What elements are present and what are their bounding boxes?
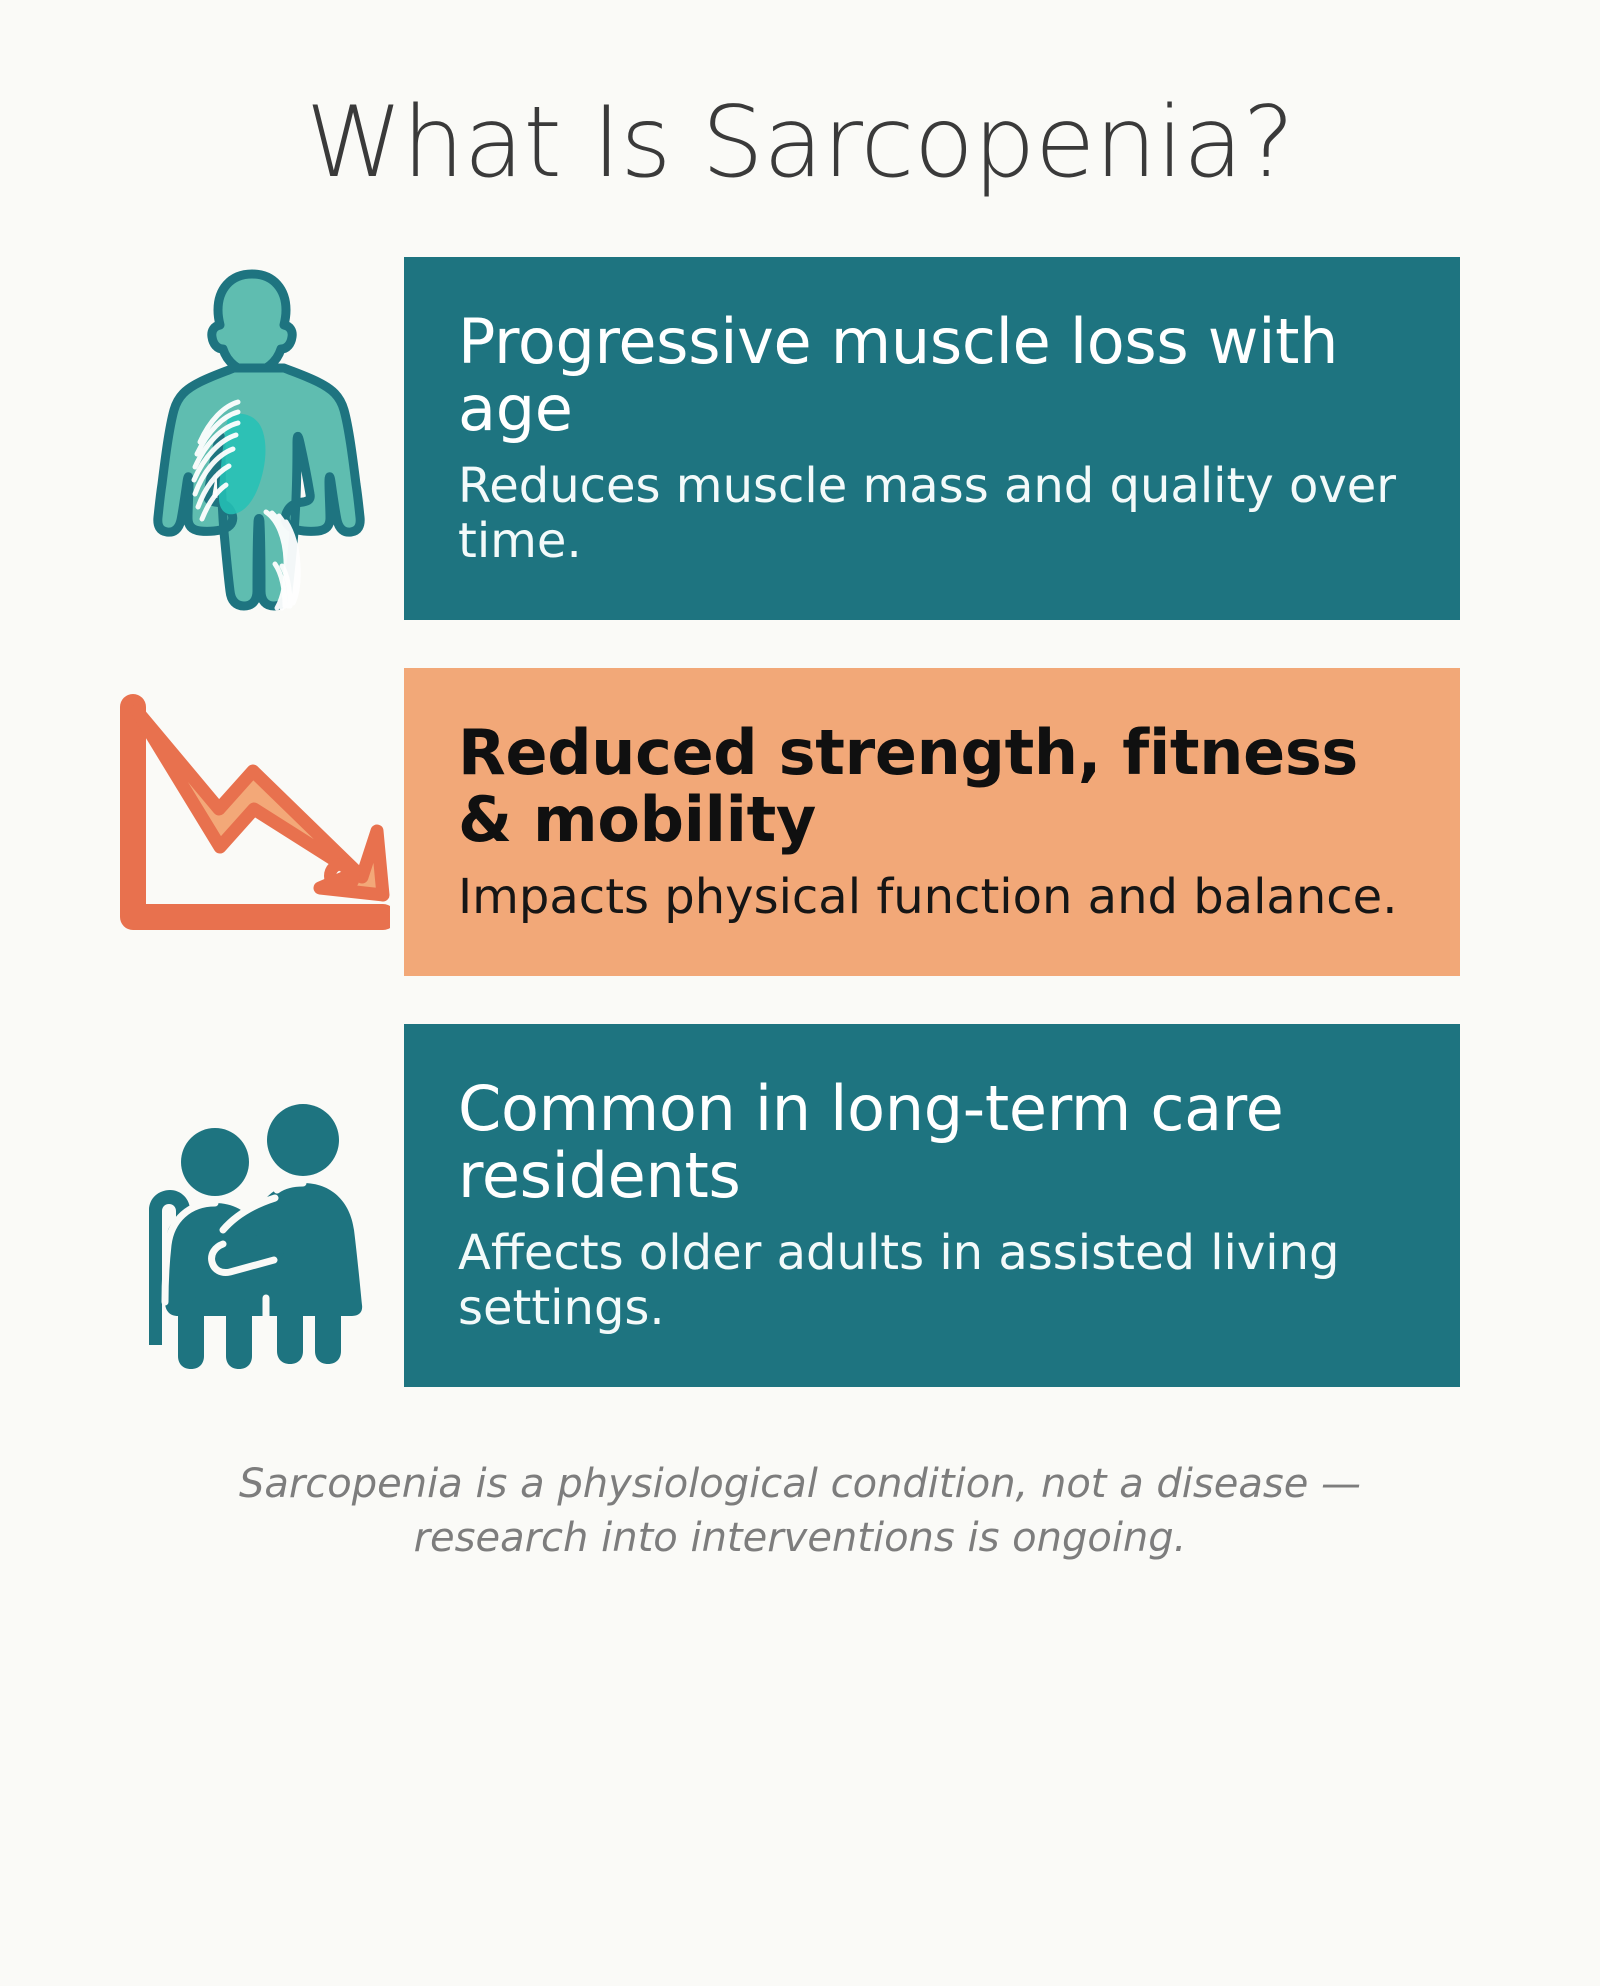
content-row: Common in long-term care residents Affec… [104,1024,1460,1387]
icon-cell [104,668,404,976]
card-subtext: Reduces muscle mass and quality over tim… [458,459,1402,570]
card-subtext: Affects older adults in assisted living … [458,1226,1402,1337]
human-body-muscle-icon [137,264,367,614]
content-rows: Progressive muscle loss with age Reduces… [0,257,1600,1387]
info-card: Progressive muscle loss with age Reduces… [404,257,1460,620]
footer-note: Sarcopenia is a physiological condition,… [180,1457,1420,1566]
content-row: Reduced strength, fitness & mobility Imp… [104,668,1460,976]
downward-trend-arrow-icon [115,689,390,954]
card-heading: Progressive muscle loss with age [458,309,1402,443]
card-heading: Common in long-term care residents [458,1076,1402,1210]
info-card: Reduced strength, fitness & mobility Imp… [404,668,1460,976]
content-row: Progressive muscle loss with age Reduces… [104,257,1460,620]
infographic-poster: What Is Sarcopenia? [0,0,1600,1986]
page-title: What Is Sarcopenia? [0,92,1600,195]
title-section: What Is Sarcopenia? [0,0,1600,195]
elderly-couple-assisted-walking-icon [107,1040,397,1370]
icon-cell [104,257,404,620]
card-subtext: Impacts physical function and balance. [458,870,1402,926]
card-heading: Reduced strength, fitness & mobility [458,720,1402,854]
icon-cell [104,1024,404,1387]
footer-section: Sarcopenia is a physiological condition,… [0,1457,1600,1566]
info-card: Common in long-term care residents Affec… [404,1024,1460,1387]
